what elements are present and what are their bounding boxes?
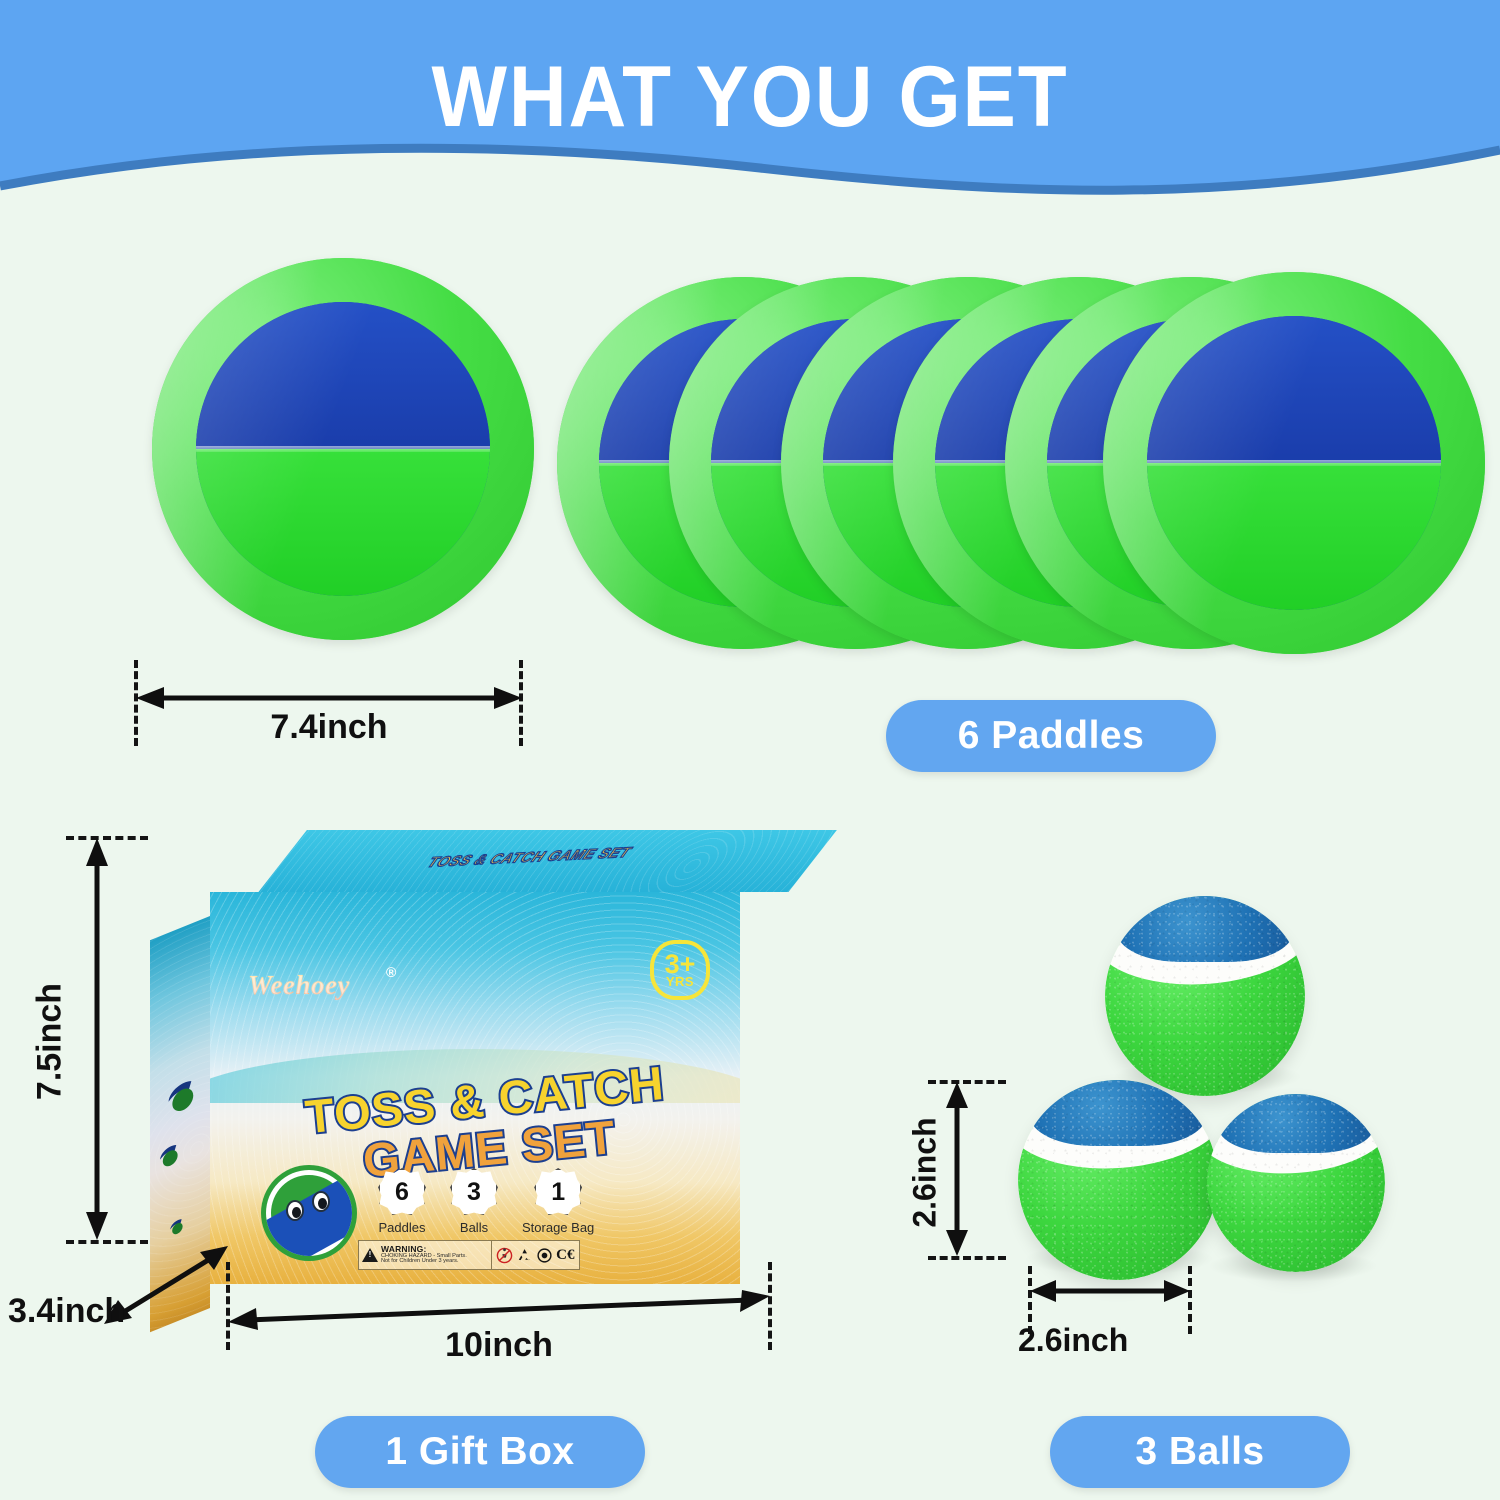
box-lid: TOSS & CATCH GAME SET xyxy=(258,830,836,892)
badge-balls: 3 Balls xyxy=(1050,1416,1350,1488)
gift-box-image: TOSS & CATCH GAME SET xyxy=(150,830,790,1310)
green-dot-icon xyxy=(536,1247,553,1264)
badge-paddles: 6 Paddles xyxy=(886,700,1216,772)
content-qty-badge: 6 xyxy=(378,1168,426,1216)
brand-registered-mark: ® xyxy=(386,964,396,980)
box-content-item: 1 Storage Bag xyxy=(522,1168,594,1235)
ball-item xyxy=(1018,1080,1218,1280)
content-label: Storage Bag xyxy=(522,1220,594,1235)
header-banner: WHAT YOU GET xyxy=(0,0,1500,210)
mascot-character-icon xyxy=(266,1170,352,1256)
age-rating-badge: 3+ YRS xyxy=(650,940,710,1000)
infographic-root: WHAT YOU GET xyxy=(0,0,1500,1500)
page-title: WHAT YOU GET xyxy=(53,48,1448,147)
box-content-item: 6 Paddles xyxy=(378,1168,426,1235)
box-contents-list: 6 Paddles 3 Balls 1 Storage Bag xyxy=(378,1168,594,1235)
no-children-under-3-icon xyxy=(496,1247,513,1264)
content-label: Balls xyxy=(450,1220,498,1235)
badge-giftbox-label: 1 Gift Box xyxy=(385,1430,574,1474)
ball-height-label: 2.6inch xyxy=(907,1064,944,1282)
age-rating-unit: YRS xyxy=(666,976,694,987)
dimension-arrow-horizontal xyxy=(1028,1278,1192,1304)
age-rating-number: 3+ xyxy=(665,953,696,976)
box-front-panel: Weehoey ® 3+ YRS TOSS & CATCH GAME SET xyxy=(210,892,740,1284)
box-content-item: 3 Balls xyxy=(450,1168,498,1235)
ball-item xyxy=(1207,1094,1385,1272)
ball-width-label: 2.6inch xyxy=(1018,1322,1128,1359)
ball-item xyxy=(1105,896,1305,1096)
paddle-item xyxy=(1103,272,1485,654)
box-depth-label: 3.4inch xyxy=(8,1292,125,1331)
badge-paddles-label: 6 Paddles xyxy=(958,714,1145,758)
content-qty-badge: 3 xyxy=(450,1168,498,1216)
badge-balls-label: 3 Balls xyxy=(1135,1430,1264,1474)
warning-label: WARNING: CHOKING HAZARD - Small Parts. N… xyxy=(358,1240,580,1270)
warning-triangle-icon xyxy=(362,1248,378,1262)
box-height-label: 7.5inch xyxy=(31,902,70,1182)
brand-logo: Weehoey xyxy=(248,970,350,1001)
badge-giftbox: 1 Gift Box xyxy=(315,1416,645,1488)
dimension-arrow-vertical xyxy=(84,836,110,1242)
dimension-arrow-horizontal xyxy=(226,1290,772,1330)
paddle-item-featured xyxy=(152,258,534,640)
warning-line-2: Not for Children Under 3 years. xyxy=(381,1259,467,1265)
content-qty-badge: 1 xyxy=(534,1168,582,1216)
dimension-arrow-vertical xyxy=(944,1080,970,1258)
ce-mark-icon: C€ xyxy=(556,1247,574,1264)
recycle-icon xyxy=(516,1247,533,1264)
content-label: Paddles xyxy=(378,1220,426,1235)
box-width-label: 10inch xyxy=(226,1326,772,1365)
paddle-width-label: 7.4inch xyxy=(134,708,524,747)
